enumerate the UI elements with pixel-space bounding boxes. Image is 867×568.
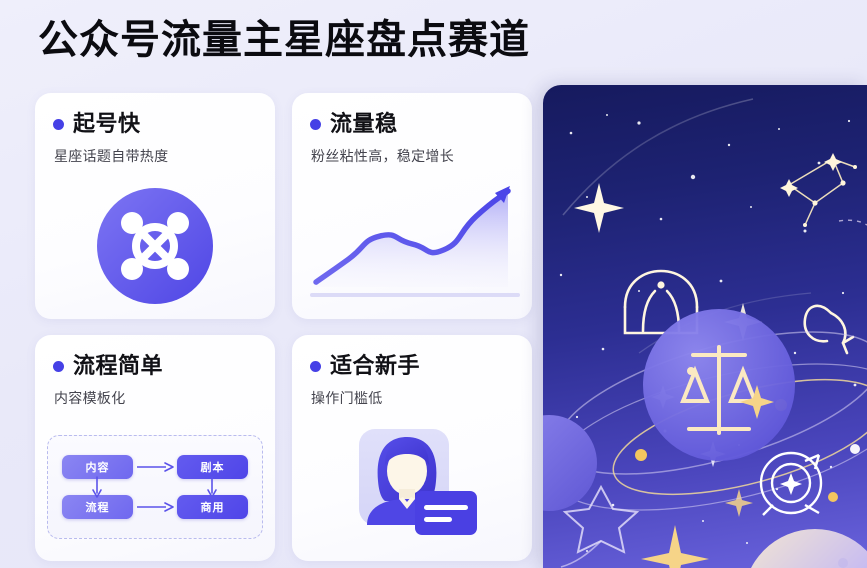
planet-small-left — [543, 415, 597, 511]
card-simple-process[interactable]: 流程简单 内容模板化 内容 剧本 流程 — [35, 335, 275, 561]
page-title: 公众号流量主星座盘点赛道 — [38, 18, 530, 62]
flow-node-1[interactable]: 内容 — [62, 455, 133, 479]
target-center-star — [780, 473, 802, 495]
card-subtitle: 操作门槛低 — [311, 388, 514, 408]
card-header: 适合新手 — [310, 355, 514, 377]
bullet-dot-icon — [53, 361, 64, 372]
feature-card-grid: 起号快 星座话题自带热度 — [35, 93, 532, 548]
flow-arrow-right-top — [133, 461, 177, 473]
bullet-dot-icon — [310, 119, 321, 130]
gold-sparkle-stars — [641, 489, 753, 568]
network-node-circle-icon — [35, 187, 275, 305]
card-art — [292, 421, 532, 561]
card-subtitle: 粉丝粘性高，稳定增长 — [311, 146, 514, 166]
card-beginner-friendly[interactable]: 适合新手 操作门槛低 — [292, 335, 532, 561]
constellation-lines — [789, 159, 855, 225]
flow-node-4[interactable]: 商用 — [177, 495, 248, 519]
bullet-dot-icon — [53, 119, 64, 130]
card-art — [292, 179, 532, 319]
flow-arrow-right-bottom — [133, 501, 177, 513]
card-header: 流程简单 — [53, 355, 257, 377]
growth-arrow-chart — [300, 179, 526, 314]
flow-node-2[interactable]: 剧本 — [177, 455, 248, 479]
flow-node-3[interactable]: 流程 — [62, 495, 133, 519]
card-art — [35, 179, 275, 319]
card-subtitle: 星座话题自带热度 — [54, 146, 257, 166]
card-title: 流量稳 — [330, 113, 398, 135]
scale-dot — [687, 367, 695, 375]
flow-diagram: 内容 剧本 流程 商用 — [47, 435, 263, 539]
growth-line-chart — [300, 179, 526, 309]
card-art: 内容 剧本 流程 商用 — [35, 421, 275, 561]
card-subtitle: 内容模板化 — [54, 388, 257, 408]
card-stable-traffic[interactable]: 流量稳 粉丝粘性高，稳定增长 — [292, 93, 532, 319]
zodiac-space-illustration — [543, 85, 867, 568]
card-fast-start[interactable]: 起号快 星座话题自带热度 — [35, 93, 275, 319]
card-header: 起号快 — [53, 113, 257, 135]
shooting-star — [563, 99, 753, 215]
bullet-dot-icon — [310, 361, 321, 372]
card-title: 适合新手 — [330, 355, 420, 377]
card-title: 起号快 — [73, 113, 141, 135]
zodiac-symbol-right — [805, 306, 853, 353]
planet-saturn — [704, 529, 867, 568]
card-title: 流程简单 — [73, 355, 163, 377]
person-card-illustration — [292, 423, 532, 549]
card-header: 流量稳 — [310, 113, 514, 135]
